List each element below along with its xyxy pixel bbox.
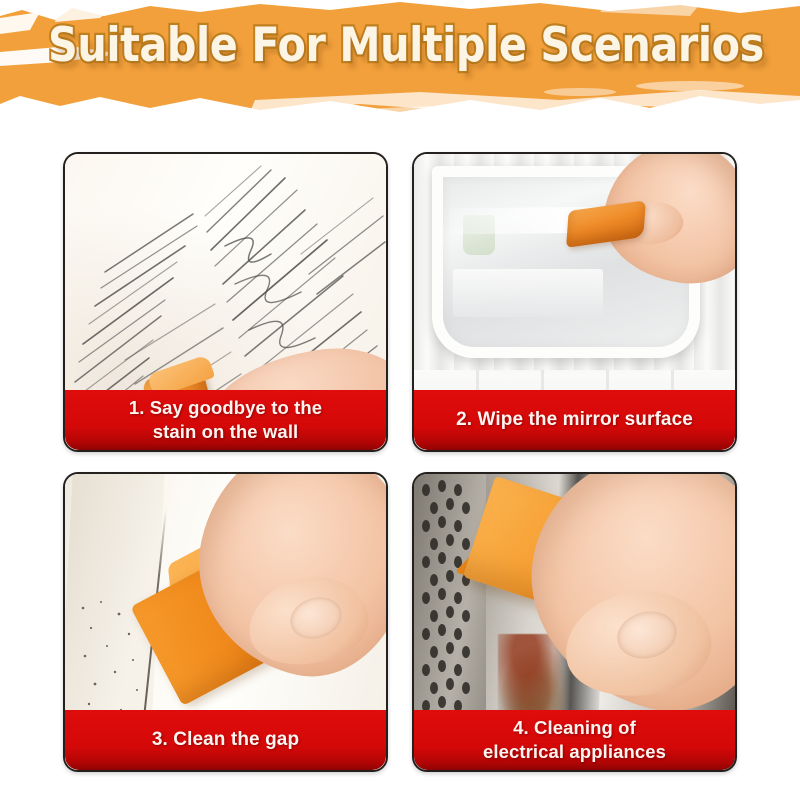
card-caption-4: 4. Cleaning of electrical appliances [414,710,735,770]
scenario-card-2[interactable]: 2. Wipe the mirror surface [412,152,737,452]
card-caption-3: 3. Clean the gap [65,710,386,770]
card-caption-1: 1. Say goodbye to the stain on the wall [65,390,386,450]
scenario-card-1[interactable]: 1. Say goodbye to the stain on the wall [63,152,388,452]
scenario-grid: 1. Say goodbye to the stain on the wall … [63,152,737,792]
card-caption-2: 2. Wipe the mirror surface [414,390,735,450]
caption-line-1: 3. Clean the gap [152,728,299,752]
caption-line-2: electrical appliances [483,741,666,762]
caption-line-1: 2. Wipe the mirror surface [456,408,693,432]
header-banner: Suitable For Multiple Scenarios Suitable… [0,0,800,140]
caption-line-1: 1. Say goodbye to the [129,397,322,418]
page-title: Suitable For Multiple Scenarios [48,16,752,76]
caption-line-2: stain on the wall [153,421,299,442]
scenario-card-3[interactable]: 3. Clean the gap [63,472,388,772]
caption-line-1: 4. Cleaning of [513,717,636,738]
scenario-card-4[interactable]: 4. Cleaning of electrical appliances [412,472,737,772]
mirror-reflection-shelf [453,269,603,317]
